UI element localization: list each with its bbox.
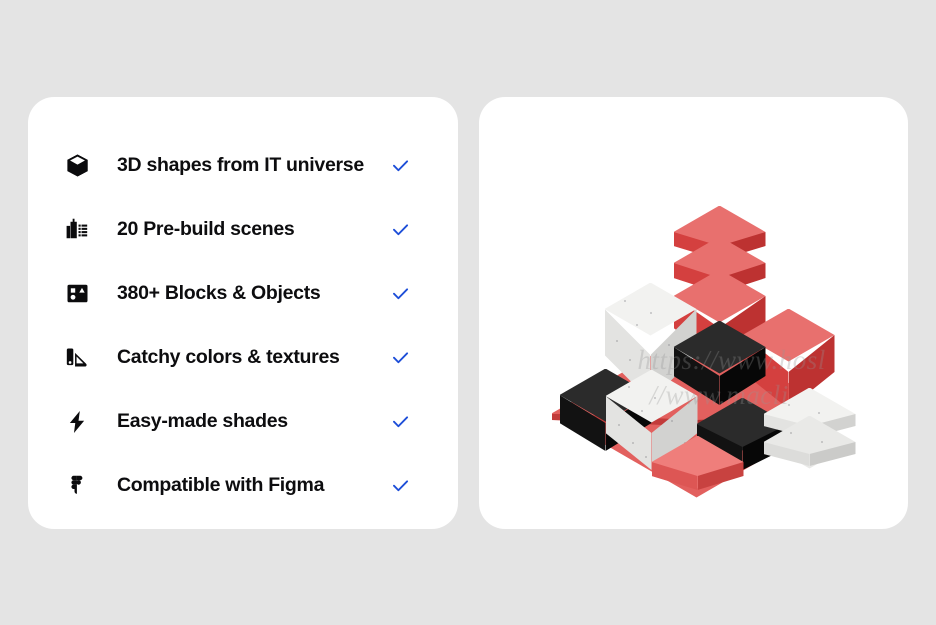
feature-row[interactable]: 380+ Blocks & Objects xyxy=(28,262,458,326)
feature-label: Catchy colors & textures xyxy=(117,346,389,369)
buildings-icon xyxy=(60,213,94,247)
cube-3d-icon xyxy=(60,149,94,183)
figma-logo-icon xyxy=(60,469,94,503)
feature-label: Compatible with Figma xyxy=(117,474,389,497)
feature-list: 3D shapes from IT universe xyxy=(28,131,458,518)
check-icon xyxy=(389,475,411,497)
feature-label: 3D shapes from IT universe xyxy=(117,154,389,177)
feature-label: Easy-made shades xyxy=(117,410,389,433)
feature-row[interactable]: 20 Pre-build scenes xyxy=(28,198,458,262)
isometric-3d-blocks-illustration: https://www.hosl //www.macli xyxy=(479,97,908,529)
page-root: 3D shapes from IT universe xyxy=(0,0,936,625)
check-icon xyxy=(389,219,411,241)
feature-row[interactable]: Easy-made shades xyxy=(28,390,458,454)
visual-card: https://www.hosl //www.macli xyxy=(479,97,908,529)
blocks-grid-icon xyxy=(60,277,94,311)
lightning-bolt-icon xyxy=(60,405,94,439)
color-swatch-icon xyxy=(60,341,94,375)
check-icon xyxy=(389,411,411,433)
check-icon xyxy=(389,347,411,369)
check-icon xyxy=(389,283,411,305)
check-icon xyxy=(389,155,411,177)
features-card: 3D shapes from IT universe xyxy=(28,97,458,529)
feature-row[interactable]: 3D shapes from IT universe xyxy=(28,134,458,198)
feature-label: 20 Pre-build scenes xyxy=(117,218,389,241)
feature-label: 380+ Blocks & Objects xyxy=(117,282,389,305)
feature-row[interactable]: Compatible with Figma xyxy=(28,454,458,518)
feature-row[interactable]: Catchy colors & textures xyxy=(28,326,458,390)
iso-scene: https://www.hosl //www.macli xyxy=(532,154,862,484)
